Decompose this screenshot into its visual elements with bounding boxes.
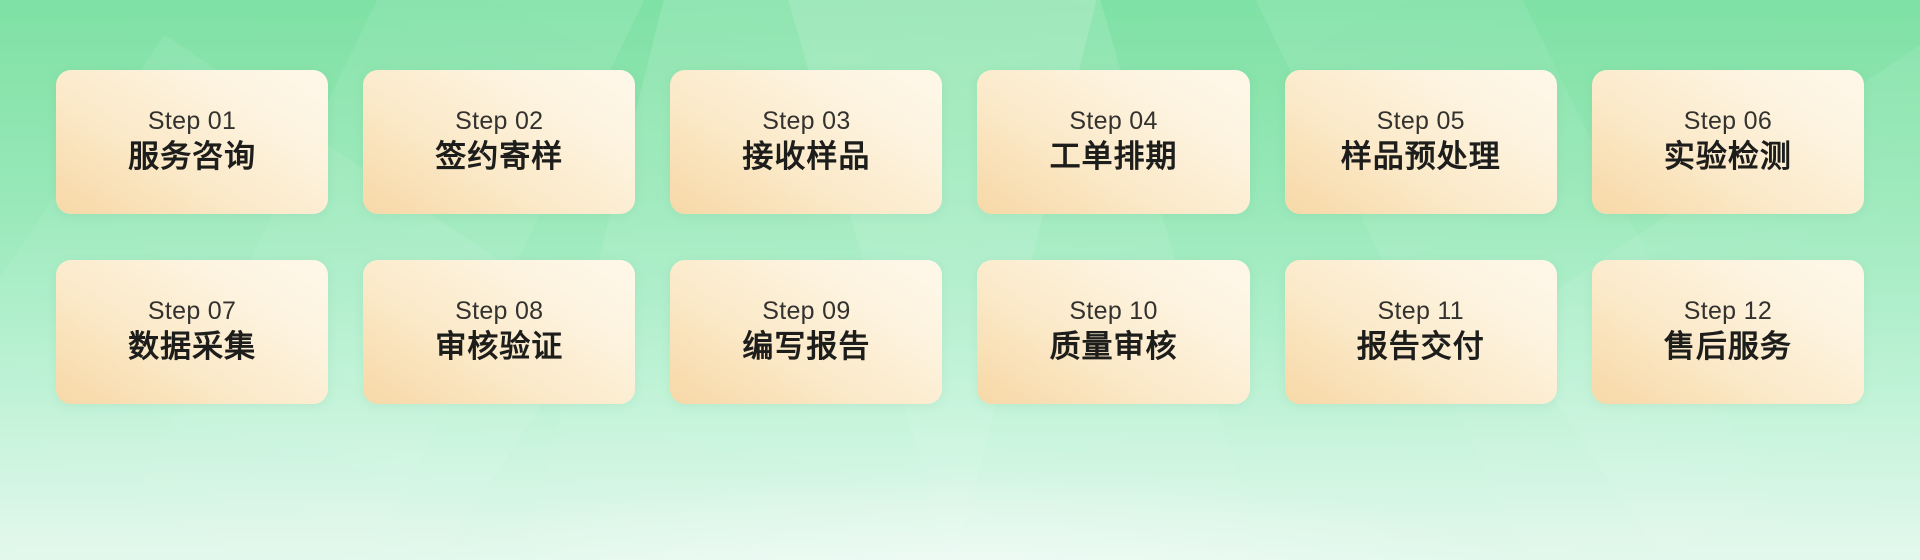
step-card-12[interactable]: Step 12 售后服务: [1592, 260, 1864, 404]
step-card-01[interactable]: Step 01 服务咨询: [56, 70, 328, 214]
step-card-10[interactable]: Step 10 质量审核: [977, 260, 1249, 404]
step-title-label: 售后服务: [1664, 329, 1792, 366]
step-title-label: 接收样品: [742, 139, 870, 176]
step-number-label: Step 07: [148, 297, 236, 325]
step-card-07[interactable]: Step 07 数据采集: [56, 260, 328, 404]
step-number-label: Step 10: [1069, 297, 1157, 325]
step-card-grid: Step 01 服务咨询 Step 02 签约寄样 Step 03 接收样品 S…: [56, 70, 1864, 404]
step-title-label: 审核验证: [435, 329, 563, 366]
step-title-label: 工单排期: [1050, 139, 1178, 176]
step-card-04[interactable]: Step 04 工单排期: [977, 70, 1249, 214]
step-card-02[interactable]: Step 02 签约寄样: [363, 70, 635, 214]
step-number-label: Step 01: [148, 107, 236, 135]
step-card-05[interactable]: Step 05 样品预处理: [1285, 70, 1557, 214]
step-number-label: Step 04: [1069, 107, 1157, 135]
step-number-label: Step 11: [1378, 297, 1464, 325]
step-card-06[interactable]: Step 06 实验检测: [1592, 70, 1864, 214]
step-title-label: 数据采集: [128, 329, 256, 366]
step-number-label: Step 09: [762, 297, 850, 325]
step-title-label: 样品预处理: [1341, 139, 1501, 176]
step-number-label: Step 03: [762, 107, 850, 135]
process-steps-banner: Step 01 服务咨询 Step 02 签约寄样 Step 03 接收样品 S…: [0, 0, 1920, 560]
step-title-label: 质量审核: [1050, 329, 1178, 366]
step-card-08[interactable]: Step 08 审核验证: [363, 260, 635, 404]
step-title-label: 签约寄样: [435, 139, 563, 176]
step-title-label: 编写报告: [742, 329, 870, 366]
step-title-label: 实验检测: [1664, 139, 1792, 176]
step-title-label: 报告交付: [1357, 329, 1485, 366]
step-number-label: Step 06: [1684, 107, 1772, 135]
step-number-label: Step 05: [1377, 107, 1465, 135]
step-number-label: Step 02: [455, 107, 543, 135]
step-card-09[interactable]: Step 09 编写报告: [670, 260, 942, 404]
step-number-label: Step 08: [455, 297, 543, 325]
step-card-11[interactable]: Step 11 报告交付: [1285, 260, 1557, 404]
step-number-label: Step 12: [1684, 297, 1772, 325]
step-card-03[interactable]: Step 03 接收样品: [670, 70, 942, 214]
step-title-label: 服务咨询: [128, 139, 256, 176]
